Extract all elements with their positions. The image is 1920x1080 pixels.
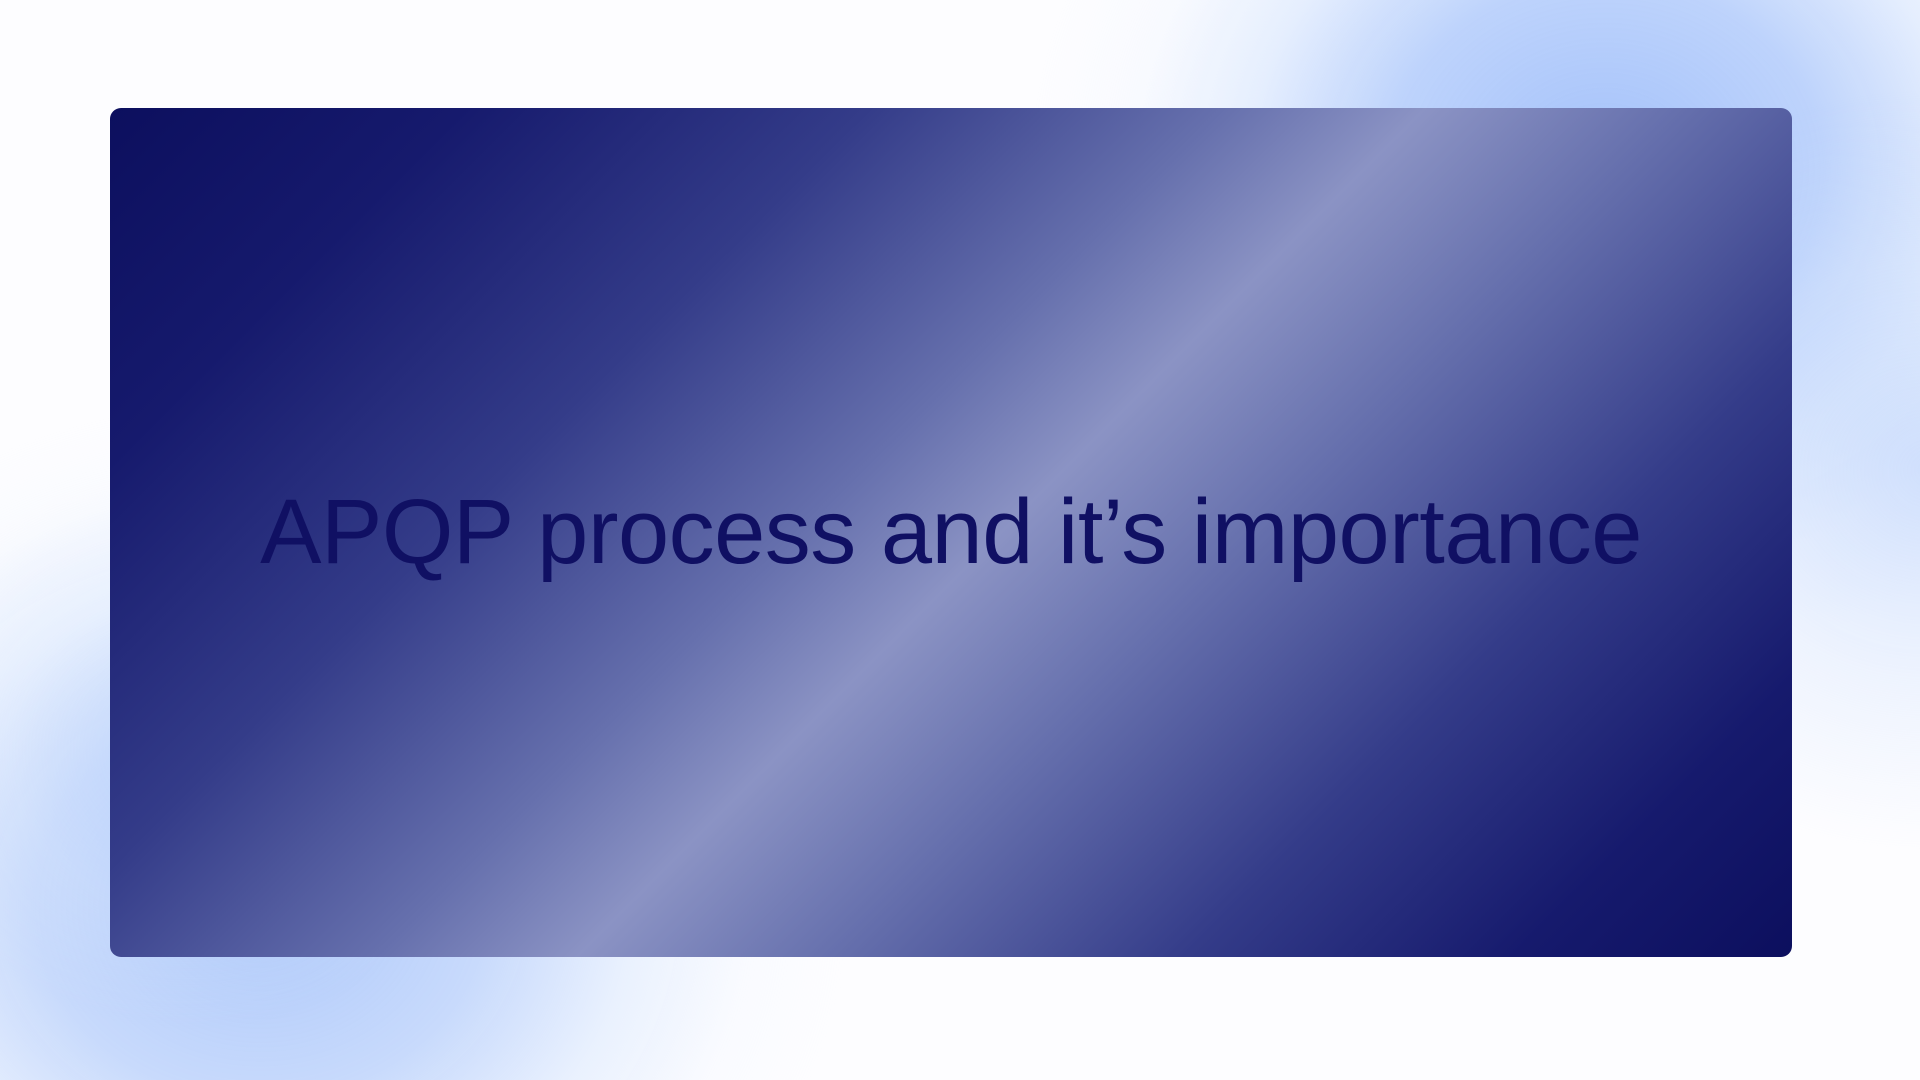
slide-title: APQP process and it’s importance (113, 484, 1789, 582)
slide-canvas: APQP process and it’s importance (0, 0, 1920, 1080)
title-card-inner: APQP process and it’s importance (113, 111, 1789, 954)
title-card-frame: APQP process and it’s importance (110, 108, 1792, 957)
